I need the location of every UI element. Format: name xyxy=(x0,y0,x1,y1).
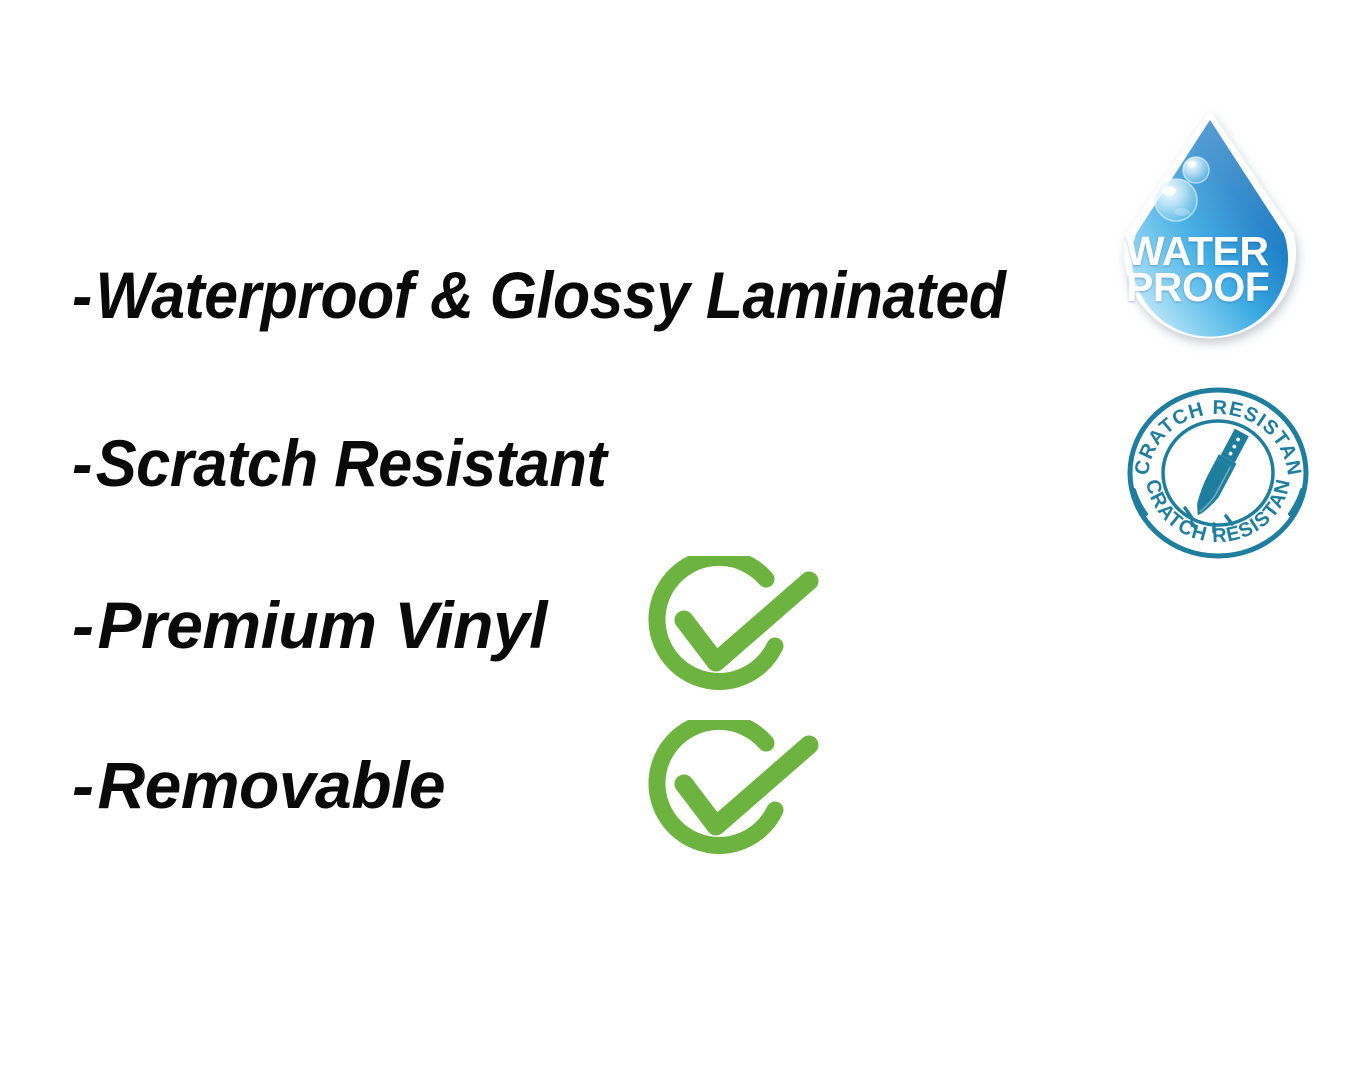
feature-label: Scratch Resistant xyxy=(96,426,607,500)
feature-dash: - xyxy=(72,430,92,496)
product-feature-graphic: -Waterproof & Glossy Laminated -Scratch … xyxy=(0,0,1359,1080)
feature-dash: - xyxy=(72,262,92,328)
checkmark-premium-vinyl xyxy=(642,556,828,706)
check-circle-icon xyxy=(642,720,828,870)
checkmark-removable xyxy=(642,720,828,870)
scratch-resistant-icon: SCRATCH RESISTANT SCRATCH RESISTANT xyxy=(1122,382,1314,564)
water-drop-icon xyxy=(1108,108,1312,360)
check-circle-icon xyxy=(642,556,828,706)
check-stroke xyxy=(684,581,809,662)
feature-line-premium-vinyl: -Premium Vinyl xyxy=(72,592,547,658)
water-drop-highlight xyxy=(1132,120,1288,337)
scratch-text-top: SCRATCH RESISTANT xyxy=(1122,382,1305,478)
feature-dash: - xyxy=(72,752,93,818)
feature-label: Waterproof & Glossy Laminated xyxy=(95,258,1005,332)
knife-icon xyxy=(1189,428,1251,520)
feature-line-removable: -Removable xyxy=(72,752,445,818)
check-stroke xyxy=(684,745,809,826)
water-bubble-icon xyxy=(1155,179,1197,221)
feature-line-scratch-resistant: -Scratch Resistant xyxy=(72,430,606,496)
scratch-resistant-badge: SCRATCH RESISTANT SCRATCH RESISTANT xyxy=(1122,382,1314,564)
feature-dash: - xyxy=(72,592,93,658)
water-bubble-icon xyxy=(1183,157,1209,183)
feature-label: Premium Vinyl xyxy=(97,588,547,662)
feature-label: Removable xyxy=(97,748,445,822)
waterproof-badge: WATER PROOF xyxy=(1108,108,1312,360)
feature-line-waterproof-glossy-laminated: -Waterproof & Glossy Laminated xyxy=(72,262,1005,328)
